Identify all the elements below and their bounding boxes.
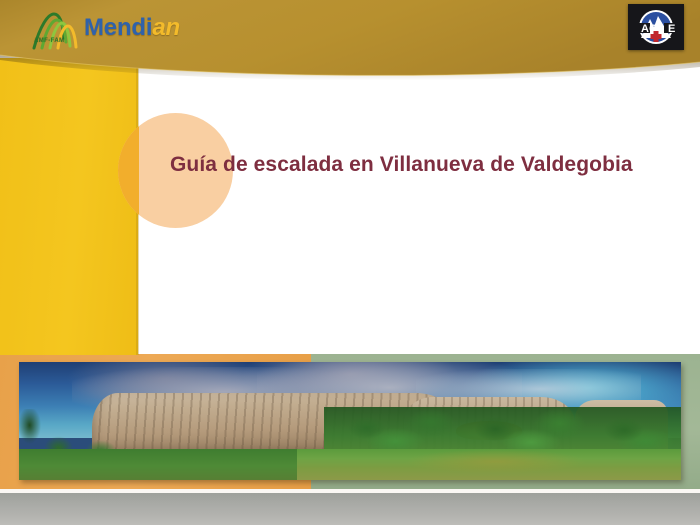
panorama-photo [19, 362, 681, 480]
mendian-wordmark-accent: an [152, 14, 180, 41]
mendian-mountain-icon [30, 8, 86, 52]
photo-meadow-shadow [19, 449, 297, 480]
age-badge-emblem: AG E [628, 4, 684, 50]
age-badge-text-right: E [668, 23, 675, 35]
mendian-logo-subtext: AMF-FAM [34, 38, 64, 44]
page-title: Guía de escalada en Villanueva de Valdeg… [170, 152, 640, 178]
age-club-badge[interactable]: AG E [628, 4, 684, 50]
mendian-logo[interactable]: AMF-FAM Mendian [30, 8, 200, 54]
mendian-wordmark: Mendian [84, 14, 180, 42]
mendian-wordmark-primary: Mendi [84, 14, 152, 41]
slide-canvas: AMF-FAM Mendian AG E Guía de escalada en… [0, 0, 700, 525]
sidebar-panel [0, 58, 138, 355]
footer-bar [0, 493, 700, 525]
